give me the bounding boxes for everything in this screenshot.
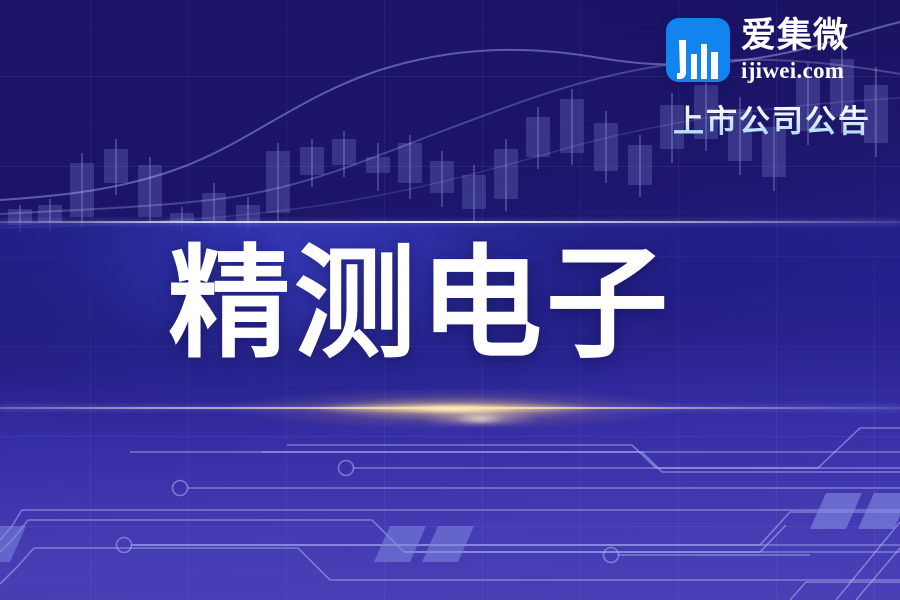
circuit-decoration xyxy=(0,400,900,600)
brand-subtitle: 上市公司公告 xyxy=(666,96,878,141)
bar-chart-logo-icon xyxy=(666,18,730,82)
announcement-cover: 精测电子 爱集微 ijiwei.com 上市公司公告 xyxy=(0,0,900,600)
brand-text: 爱集微 ijiwei.com xyxy=(741,19,849,82)
brand-name-en: ijiwei.com xyxy=(741,59,849,82)
divider-line-top xyxy=(0,221,900,223)
brand-row: 爱集微 ijiwei.com xyxy=(666,18,878,82)
circuit-svg xyxy=(0,400,900,600)
page-title: 精测电子 xyxy=(168,240,672,369)
logo-glyph xyxy=(675,40,721,82)
brand-block: 爱集微 ijiwei.com 上市公司公告 xyxy=(666,18,878,141)
brand-name-cn: 爱集微 xyxy=(741,19,849,54)
